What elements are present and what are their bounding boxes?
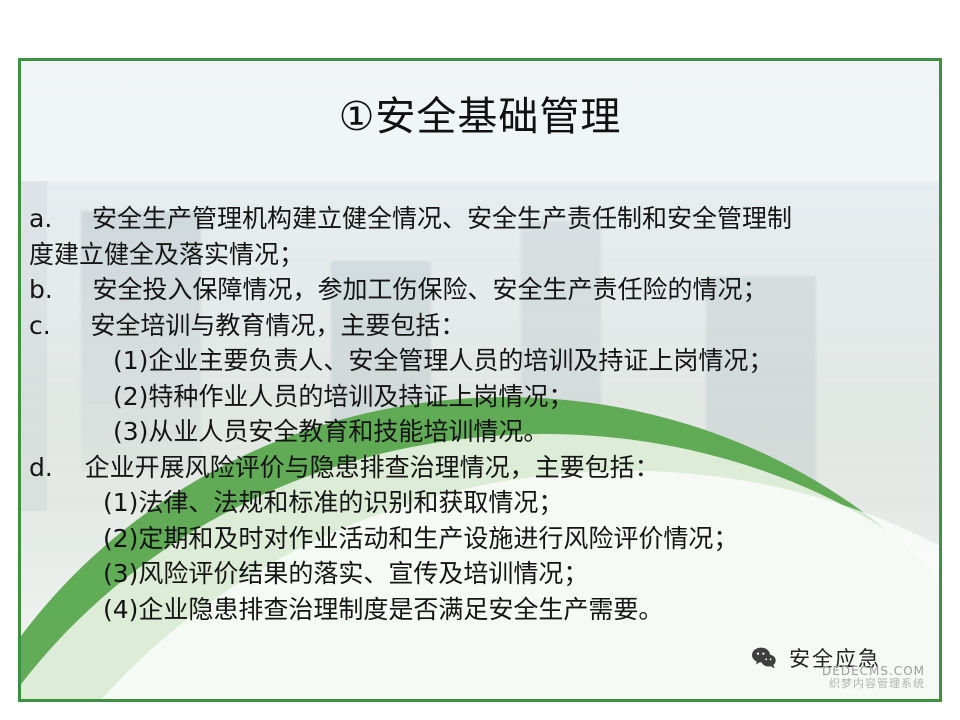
body-line: (2)定期和及时对作业活动和生产设施进行风险评价情况； [21, 521, 921, 557]
body-line: d. 企业开展风险评价与隐患排查治理情况，主要包括： [21, 450, 921, 486]
slide-content: ①安全基础管理 a. 安全生产管理机构建立健全情况、安全生产责任制和安全管理制 … [21, 61, 939, 699]
body-line: (2)特种作业人员的培训及持证上岗情况； [21, 379, 921, 415]
slide-body: a. 安全生产管理机构建立健全情况、安全生产责任制和安全管理制 度建立健全及落实… [21, 201, 921, 627]
body-line: 度建立健全及落实情况； [21, 237, 921, 273]
body-line: a. 安全生产管理机构建立健全情况、安全生产责任制和安全管理制 [21, 201, 921, 237]
site-watermark-sub: 织梦内容管理系统 [822, 678, 925, 691]
slide-title: ①安全基础管理 [21, 93, 939, 141]
body-line: c. 安全培训与教育情况，主要包括： [21, 308, 921, 344]
site-watermark: DEDECMS.COM 织梦内容管理系统 [822, 665, 925, 691]
body-line: (1)法律、法规和标准的识别和获取情况； [21, 485, 921, 521]
body-line: (4)企业隐患排查治理制度是否满足安全生产需要。 [21, 592, 921, 628]
slide-frame: ①安全基础管理 a. 安全生产管理机构建立健全情况、安全生产责任制和安全管理制 … [18, 58, 942, 702]
body-line: (1)企业主要负责人、安全管理人员的培训及持证上岗情况； [21, 343, 921, 379]
presentation-slide: ①安全基础管理 a. 安全生产管理机构建立健全情况、安全生产责任制和安全管理制 … [0, 0, 960, 720]
wechat-icon [751, 645, 777, 671]
body-line: (3)从业人员安全教育和技能培训情况。 [21, 414, 921, 450]
body-line: b. 安全投入保障情况，参加工伤保险、安全生产责任险的情况； [21, 272, 921, 308]
body-line: (3)风险评价结果的落实、宣传及培训情况； [21, 556, 921, 592]
